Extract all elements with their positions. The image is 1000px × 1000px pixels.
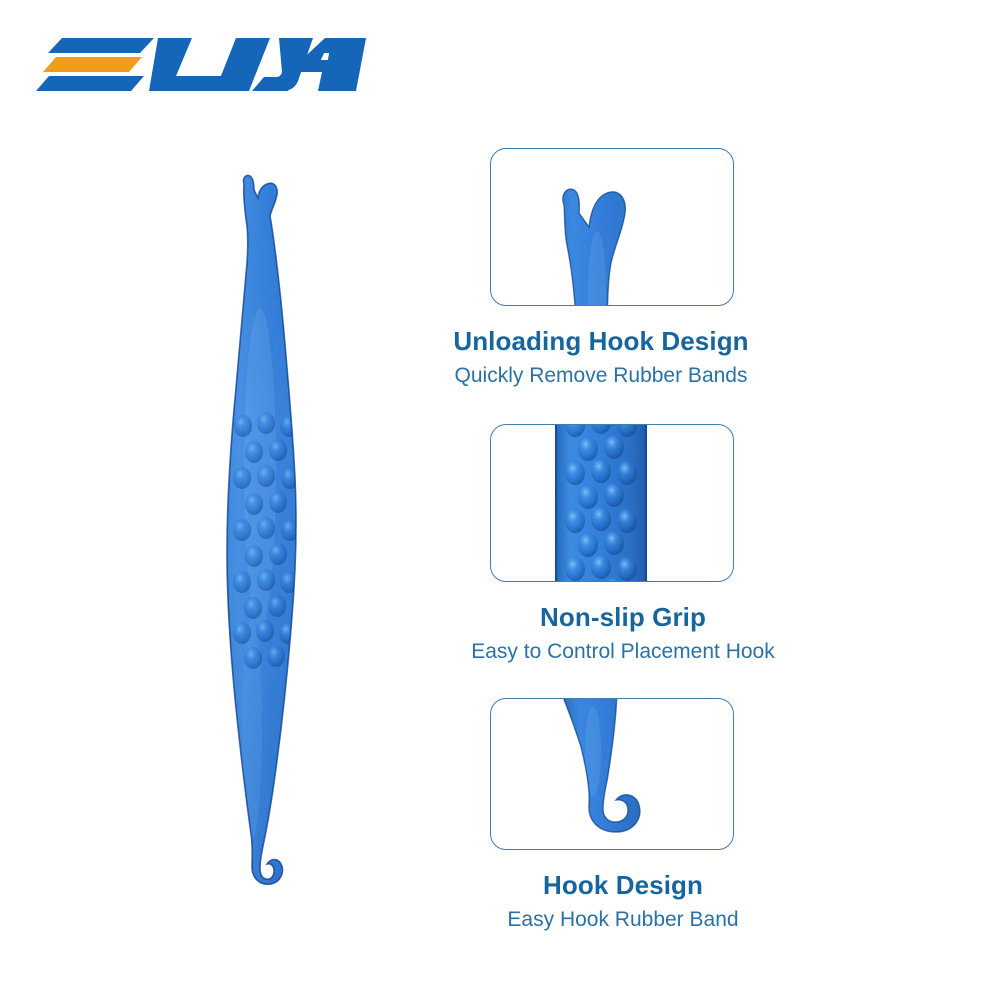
feature-subtitle: Quickly Remove Rubber Bands: [358, 364, 844, 388]
callout-image-clip: [491, 149, 733, 305]
feature-subtitle: Easy Hook Rubber Band: [380, 908, 866, 932]
callout-image-clip: [491, 425, 733, 581]
callout-frame: [490, 698, 734, 850]
callout-frame: [490, 148, 734, 306]
callout-image-clip: [491, 699, 733, 849]
feature-callout-unloading-hook: Unloading Hook Design Quickly Remove Rub…: [490, 148, 976, 410]
placement-hook-tool-illustration: [188, 168, 368, 890]
feature-title: Hook Design: [380, 870, 866, 901]
j-hook-closeup-icon: [553, 699, 673, 836]
feature-callout-hook-design: Hook Design Easy Hook Rubber Band: [490, 698, 976, 952]
callout-frame: [490, 424, 734, 582]
dimpled-grip-closeup-icon: [551, 425, 651, 581]
elijah-wordmark-icon: [36, 28, 366, 100]
feature-callout-non-slip-grip: Non-slip Grip Easy to Control Placement …: [490, 424, 976, 678]
registered-trademark-icon: ®: [332, 54, 346, 73]
brand-logo: ®: [36, 28, 366, 100]
forked-prong-closeup-icon: [539, 171, 689, 305]
feature-title: Unloading Hook Design: [358, 326, 844, 357]
product-main-image: [188, 168, 368, 890]
feature-subtitle: Easy to Control Placement Hook: [380, 640, 866, 664]
feature-title: Non-slip Grip: [380, 602, 866, 633]
